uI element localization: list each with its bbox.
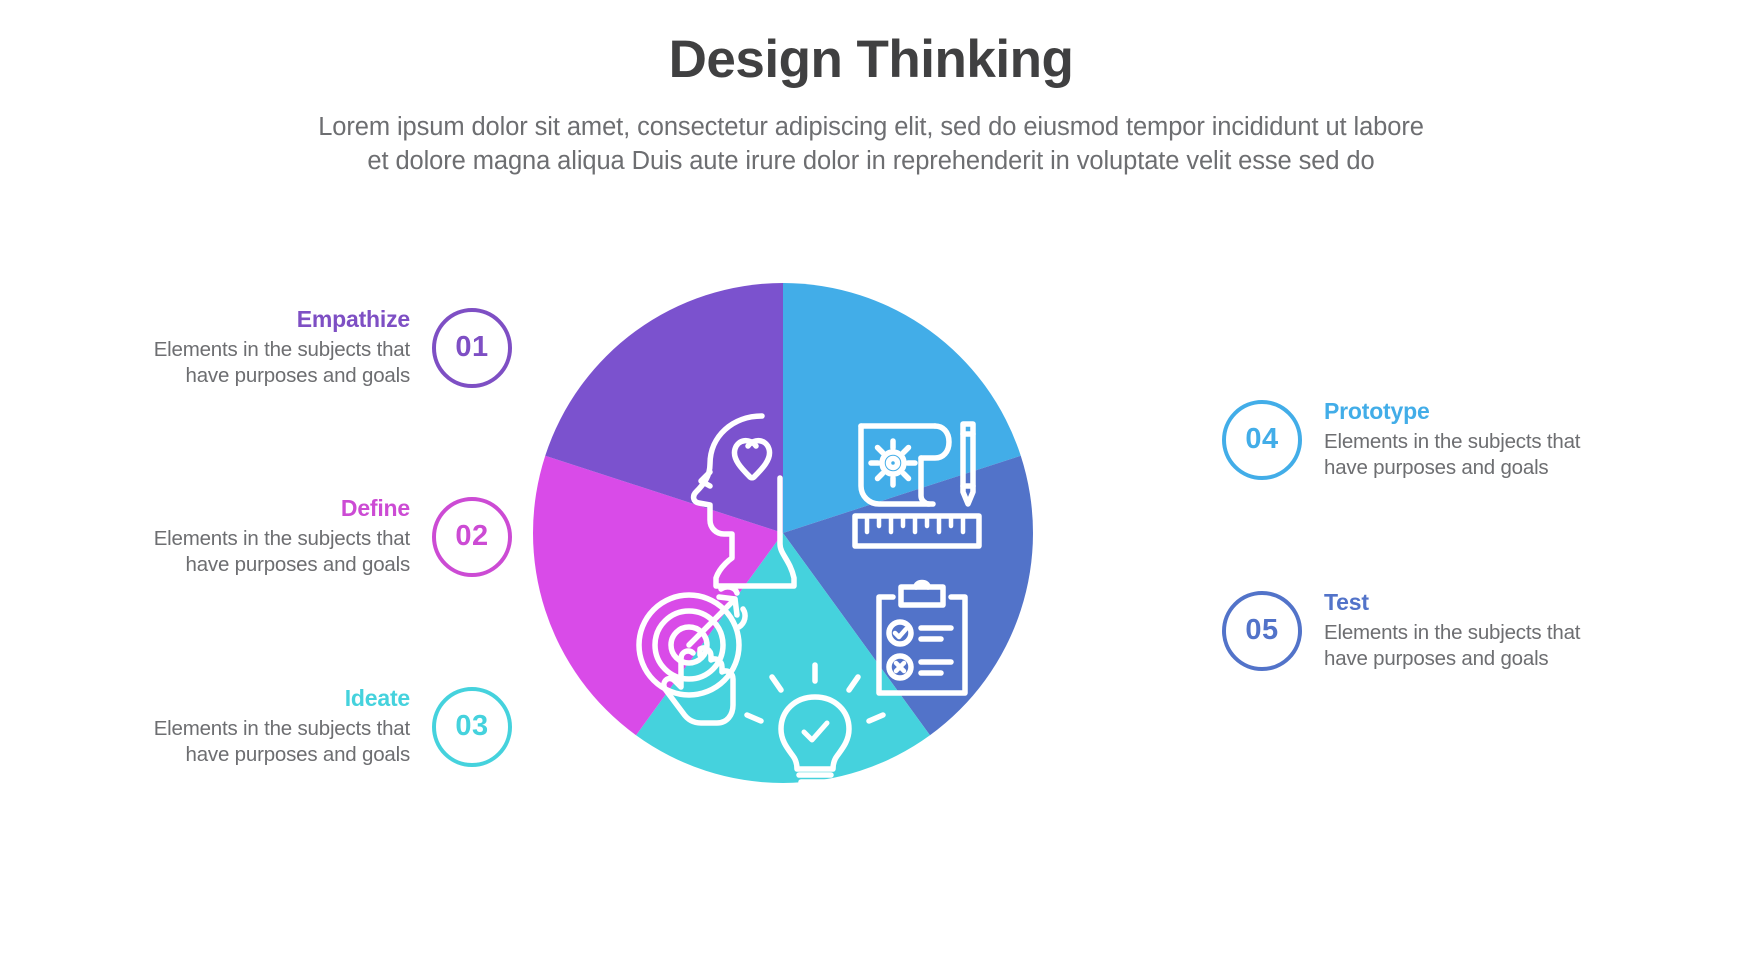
- desc-line-2: have purposes and goals: [1324, 455, 1629, 482]
- step-number-03: 03: [455, 712, 488, 741]
- subtitle-line-1: Lorem ipsum dolor sit amet, consectetur …: [61, 111, 1681, 145]
- step-text-block: Define Elements in the subjects that hav…: [105, 494, 410, 579]
- step-badge-01[interactable]: 01: [432, 308, 512, 388]
- desc-line-2: have purposes and goals: [105, 742, 410, 769]
- step-number-05: 05: [1245, 616, 1278, 645]
- header: Design Thinking Lorem ipsum dolor sit am…: [0, 30, 1742, 179]
- step-item-prototype[interactable]: 04 Prototype Elements in the subjects th…: [1222, 397, 1629, 482]
- desc-line-2: have purposes and goals: [105, 363, 410, 390]
- desc-line-1: Elements in the subjects that: [105, 337, 410, 364]
- step-description: Elements in the subjects that have purpo…: [1324, 429, 1629, 482]
- page-title: Design Thinking: [0, 30, 1742, 89]
- step-item-empathize[interactable]: Empathize Elements in the subjects that …: [105, 305, 512, 390]
- step-item-test[interactable]: 05 Test Elements in the subjects that ha…: [1222, 588, 1629, 673]
- design-thinking-pie-chart: [533, 283, 1033, 783]
- pie-slice-group: [533, 283, 1033, 783]
- step-title-empathize: Empathize: [105, 305, 410, 334]
- step-title-test: Test: [1324, 588, 1629, 617]
- step-number-04: 04: [1245, 425, 1278, 454]
- step-text-block: Prototype Elements in the subjects that …: [1324, 397, 1629, 482]
- step-number-02: 02: [455, 522, 488, 551]
- step-title-define: Define: [105, 494, 410, 523]
- desc-line-1: Elements in the subjects that: [105, 526, 410, 553]
- step-description: Elements in the subjects that have purpo…: [105, 337, 410, 390]
- step-item-ideate[interactable]: Ideate Elements in the subjects that hav…: [105, 684, 512, 769]
- step-badge-05[interactable]: 05: [1222, 591, 1302, 671]
- step-badge-03[interactable]: 03: [432, 687, 512, 767]
- subtitle-line-2: et dolore magna aliqua Duis aute irure d…: [61, 145, 1681, 179]
- step-description: Elements in the subjects that have purpo…: [105, 526, 410, 579]
- step-description: Elements in the subjects that have purpo…: [1324, 620, 1629, 673]
- step-text-block: Empathize Elements in the subjects that …: [105, 305, 410, 390]
- step-text-block: Ideate Elements in the subjects that hav…: [105, 684, 410, 769]
- pie-svg: [533, 283, 1033, 783]
- step-badge-02[interactable]: 02: [432, 497, 512, 577]
- desc-line-2: have purposes and goals: [1324, 646, 1629, 673]
- desc-line-1: Elements in the subjects that: [1324, 429, 1629, 456]
- desc-line-2: have purposes and goals: [105, 552, 410, 579]
- step-item-define[interactable]: Define Elements in the subjects that hav…: [105, 494, 512, 579]
- step-number-01: 01: [455, 333, 488, 362]
- step-badge-04[interactable]: 04: [1222, 400, 1302, 480]
- desc-line-1: Elements in the subjects that: [105, 716, 410, 743]
- cross-mark: [896, 663, 904, 671]
- page-subtitle: Lorem ipsum dolor sit amet, consectetur …: [61, 111, 1681, 179]
- step-title-prototype: Prototype: [1324, 397, 1629, 426]
- step-description: Elements in the subjects that have purpo…: [105, 716, 410, 769]
- step-text-block: Test Elements in the subjects that have …: [1324, 588, 1629, 673]
- desc-line-1: Elements in the subjects that: [1324, 620, 1629, 647]
- step-title-ideate: Ideate: [105, 684, 410, 713]
- infographic-canvas: Design Thinking Lorem ipsum dolor sit am…: [0, 0, 1742, 980]
